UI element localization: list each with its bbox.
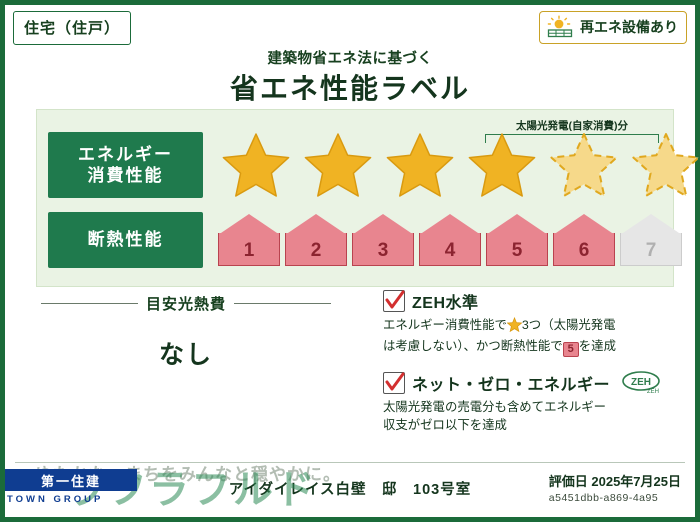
- star-filled-icon: [300, 128, 376, 202]
- criteria-section: ZEH水準 エネルギー消費性能で3つ（太陽光発電 は考慮しない）、かつ断熱性能で…: [383, 289, 673, 435]
- insulation-level-house: 2: [285, 214, 347, 266]
- insulation-level-house-inactive: 7: [620, 214, 682, 266]
- insulation-level-number: 6: [553, 240, 615, 262]
- insulation-level-number: 2: [285, 240, 347, 262]
- checkbox-checked-icon: [383, 290, 405, 312]
- criterion-net-zero-body: 太陽光発電の売電分も含めてエネルギー 収支がゼロ以下を達成: [383, 399, 673, 435]
- energy-performance-row: エネルギー 消費性能: [48, 128, 700, 202]
- star-filled-icon: [464, 128, 540, 202]
- house-type-badge: 住宅（住戸）: [13, 11, 131, 45]
- energy-star-rating: [218, 128, 700, 202]
- insulation-level-number: 4: [419, 240, 481, 262]
- criterion-net-zero: ネット・ゼロ・エネルギー ZEH ZEH 太陽光発電の売電分も含めてエネルギー …: [383, 371, 673, 435]
- house-roof: [218, 214, 280, 235]
- house-roof: [486, 214, 548, 235]
- criterion-net-zero-text-2: 収支がゼロ以下を達成: [383, 418, 507, 432]
- star-small-icon: [507, 317, 522, 338]
- checkbox-checked-icon: [383, 372, 405, 394]
- performance-panel: 太陽光発電(自家消費)分 エネルギー 消費性能: [36, 109, 674, 287]
- criterion-zeh-text-2: は考慮しない）、かつ断熱性能で: [383, 339, 563, 353]
- evaluation-id: a5451dbb-a869-4a95: [549, 492, 681, 504]
- criterion-zeh: ZEH水準 エネルギー消費性能で3つ（太陽光発電 は考慮しない）、かつ断熱性能で…: [383, 289, 673, 357]
- evaluation-info: 評価日 2025年7月25日 a5451dbb-a869-4a95: [549, 471, 681, 504]
- insulation-level-house: 4: [419, 214, 481, 266]
- energy-label-line1: エネルギー: [78, 144, 173, 165]
- criterion-net-zero-title: ネット・ゼロ・エネルギー: [412, 371, 610, 395]
- solar-equipment-badge: 再エネ設備あり: [539, 11, 687, 44]
- criterion-zeh-text-1: エネルギー消費性能で: [383, 318, 507, 332]
- star-filled-icon: [218, 128, 294, 202]
- label-title: 省エネ性能ラベル: [5, 67, 695, 107]
- solar-panel-icon: [546, 15, 574, 39]
- label-subtitle: 建築物省エネ法に基づく: [5, 47, 695, 68]
- house-roof: [419, 214, 481, 235]
- svg-text:ZEH: ZEH: [647, 389, 659, 395]
- insulation-level-house: 3: [352, 214, 414, 266]
- star-filled-icon: [382, 128, 458, 202]
- insulation-performance-label-box: 断熱性能: [48, 212, 203, 268]
- footer-divider: [15, 462, 685, 463]
- insulation-level-number: 1: [218, 240, 280, 262]
- house-roof: [620, 214, 682, 235]
- criterion-zeh-header: ZEH水準: [383, 289, 673, 313]
- insulation-level-badge: 5: [563, 342, 579, 357]
- criterion-net-zero-header: ネット・ゼロ・エネルギー ZEH ZEH: [383, 371, 673, 395]
- energy-performance-label: 住宅（住戸） 再エネ設備あり 建築物省エネ法に基づく 省エネ性能ラベル: [0, 0, 700, 522]
- rule-left: [41, 303, 138, 304]
- insulation-level-house: 5: [486, 214, 548, 266]
- insulation-performance-row: 断熱性能 1 2 3: [48, 212, 682, 268]
- rule-right: [234, 303, 331, 304]
- insulation-level-scale: 1 2 3 4: [218, 214, 682, 266]
- criterion-zeh-title: ZEH水準: [412, 289, 479, 313]
- star-dashed-solar-icon: [546, 128, 622, 202]
- estimated-utility-cost-value: なし: [41, 335, 331, 371]
- estimated-utility-cost-header: 目安光熱費: [41, 293, 331, 314]
- insulation-label: 断熱性能: [88, 229, 164, 250]
- criterion-zeh-text-3: を達成: [579, 339, 616, 353]
- energy-label-line2: 消費性能: [88, 165, 164, 186]
- solar-equipment-label: 再エネ設備あり: [580, 17, 678, 37]
- svg-text:ZEH: ZEH: [631, 377, 651, 388]
- insulation-level-number: 7: [620, 240, 682, 262]
- zeh-mark-icon: ZEH ZEH: [621, 371, 665, 395]
- energy-performance-label-box: エネルギー 消費性能: [48, 132, 203, 198]
- criterion-net-zero-text-1: 太陽光発電の売電分も含めてエネルギー: [383, 400, 606, 414]
- insulation-level-number: 3: [352, 240, 414, 262]
- house-roof: [553, 214, 615, 235]
- insulation-level-house: 1: [218, 214, 280, 266]
- house-type-label: 住宅（住戸）: [24, 20, 120, 37]
- insulation-level-number: 5: [486, 240, 548, 262]
- house-roof: [352, 214, 414, 235]
- star-dashed-solar-icon: [628, 128, 700, 202]
- criterion-zeh-body: エネルギー消費性能で3つ（太陽光発電 は考慮しない）、かつ断熱性能で5を達成: [383, 317, 673, 357]
- criterion-zeh-text-star: 3つ（太陽光発電: [522, 318, 616, 332]
- house-roof: [285, 214, 347, 235]
- estimated-utility-cost-title: 目安光熱費: [146, 293, 226, 314]
- insulation-level-house: 6: [553, 214, 615, 266]
- evaluation-date: 評価日 2025年7月25日: [549, 471, 681, 490]
